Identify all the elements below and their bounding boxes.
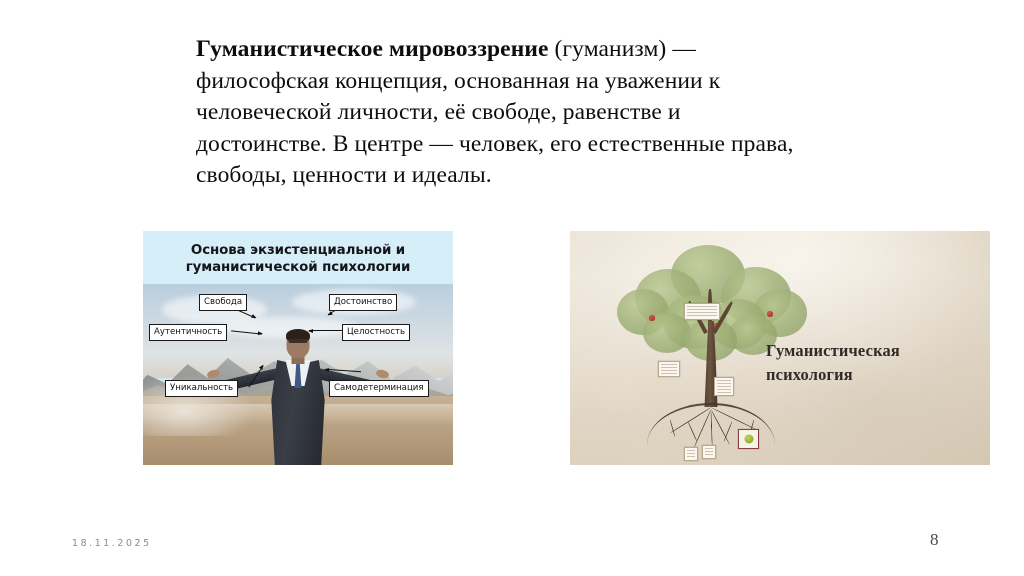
label-svoboda: Свобода (199, 294, 247, 311)
left-illustration-header: Основа экзистенциальной и гуманистическо… (143, 231, 453, 284)
note-card-lines (661, 364, 677, 374)
right-title-line-1: Гуманистическая (766, 339, 976, 363)
note-card-lines (717, 380, 731, 393)
label-unikalnost: Уникальность (165, 380, 238, 397)
page-number: 8 (930, 530, 939, 550)
root-strand (723, 421, 732, 442)
root-strand (670, 419, 676, 437)
right-title-line-2: психология (766, 363, 976, 387)
root-strand (688, 421, 698, 442)
note-card (684, 447, 698, 461)
seed-dot (744, 435, 753, 444)
right-illustration: Гуманистическая психология (570, 231, 990, 465)
left-header-line-1: Основа экзистенциальной и (191, 242, 405, 259)
slide-body-text: Гуманистическое мировоззрение (гуманизм)… (196, 34, 806, 192)
label-autentichnost: Аутентичность (149, 324, 227, 341)
slide: Гуманистическое мировоззрение (гуманизм)… (0, 0, 1024, 576)
sunglasses-icon (289, 339, 308, 343)
root-strand (711, 411, 713, 445)
fruit-dot (649, 315, 655, 321)
note-card (684, 303, 720, 320)
label-samodeterminatsiya: Самодетерминация (329, 380, 429, 397)
man-figure (214, 330, 382, 465)
arrow-tselostnost (309, 330, 342, 331)
left-header-line-2: гуманистической психологии (186, 259, 411, 276)
note-card-lines (687, 450, 695, 458)
footer-date: 18.11.2025 (72, 538, 152, 549)
note-card-lines (687, 306, 717, 317)
note-card-lines (705, 448, 713, 456)
body-lead-phrase: Гуманистическое мировоззрение (196, 36, 549, 62)
left-illustration: Основа экзистенциальной и гуманистическо… (143, 231, 453, 465)
note-card (714, 377, 734, 396)
note-card (658, 361, 680, 377)
note-card (702, 445, 716, 459)
label-dostoinstvo: Достоинство (329, 294, 397, 311)
note-card-highlight (738, 429, 759, 449)
right-illustration-title: Гуманистическая психология (766, 339, 976, 387)
left-photo: Свобода Достоинство Аутентичность Целост… (143, 284, 453, 465)
label-tselostnost: Целостность (342, 324, 410, 341)
fruit-dot (767, 311, 773, 317)
